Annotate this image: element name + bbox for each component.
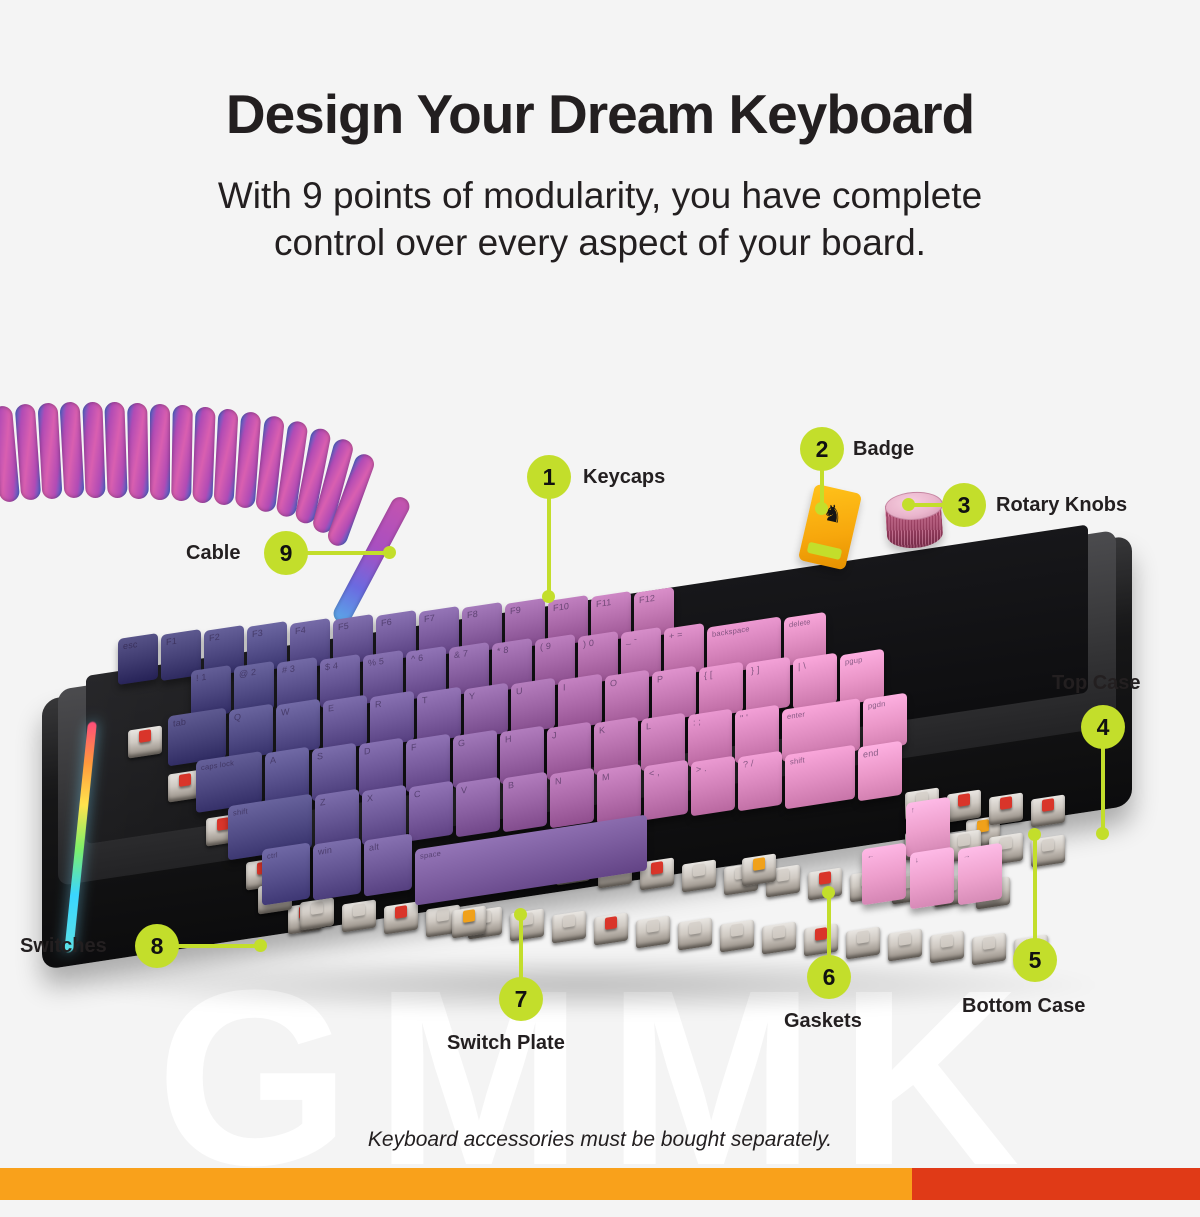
keycap-legend: tab (173, 717, 186, 729)
keycap-legend: T (422, 694, 428, 705)
keycap: I (558, 674, 602, 731)
keycap-legend: @ 2 (239, 667, 256, 680)
callout-leader-1 (547, 497, 551, 597)
page-title: Design Your Dream Keyboard (0, 82, 1200, 146)
accessories-disclaimer: Keyboard accessories must be bought sepa… (0, 1128, 1200, 1152)
keycap-legend: M (602, 771, 610, 782)
badge-accent-chip (807, 542, 843, 560)
keycap-legend: G (458, 738, 465, 749)
keycap-legend: ? / (743, 758, 754, 770)
callout-label-keycaps: Keycaps (583, 466, 665, 489)
keycap: ← (862, 843, 906, 906)
keycap-legend: Y (469, 690, 475, 701)
keycap-legend: ! 1 (196, 672, 207, 684)
keycap: alt (364, 833, 412, 896)
keycap: U (511, 678, 555, 735)
keycap: win (313, 838, 361, 901)
keycap-legend: _ - (626, 633, 637, 645)
callout-leader-8 (177, 944, 259, 948)
keycap-legend: backspace (712, 624, 750, 639)
keycap-legend: V (461, 784, 467, 795)
callout-anchor-6 (822, 886, 835, 899)
keycap-legend: H (505, 733, 512, 744)
keycap-legend: ← (867, 850, 875, 860)
keycap-legend: { [ (704, 669, 713, 680)
keycap-legend: ↑ (911, 805, 915, 815)
keycap-legend: B (508, 780, 514, 791)
keycap-legend: F11 (596, 597, 611, 609)
keycap-legend: U (516, 686, 523, 697)
callout-leader-4 (1101, 747, 1105, 833)
keycap-legend: E (328, 703, 334, 714)
keycap-legend: F12 (639, 593, 655, 605)
keycap: ↓ (910, 847, 954, 910)
keycap-legend: & 7 (454, 648, 468, 660)
keycap: W (276, 699, 320, 756)
keycap: V (456, 776, 500, 837)
keycap-legend: enter (787, 709, 805, 721)
keycap-legend: pgdn (868, 699, 886, 711)
callout-anchor-5 (1028, 828, 1041, 841)
keycap: > . (691, 755, 735, 816)
keycap-legend: W (281, 707, 290, 718)
keycap-legend: > . (696, 763, 707, 775)
callout-label-bottom-case: Bottom Case (962, 995, 1085, 1018)
keycap-legend: R (375, 698, 382, 709)
keycap-legend: " ' (740, 712, 748, 723)
keycap-legend: Z (320, 797, 326, 808)
callout-label-switches: Switches (20, 935, 107, 958)
keycap-legend: shift (233, 806, 248, 817)
rotary-knob (882, 490, 946, 552)
keycap-legend: ↓ (915, 855, 919, 865)
keycap: } ] (746, 657, 790, 714)
keycap: < , (644, 759, 688, 820)
keycap-legend: F8 (467, 609, 478, 621)
keycap-legend: end (863, 747, 879, 759)
keycap-legend: F7 (424, 613, 435, 625)
keycap-legend: + = (669, 629, 683, 641)
keycap: end (858, 740, 902, 801)
bar-segment-orange (0, 1168, 912, 1200)
keycap-legend: < , (649, 767, 660, 779)
keycap-legend: O (610, 677, 617, 688)
keycap: N (550, 768, 594, 829)
keycap-legend: F5 (338, 620, 349, 632)
keycap-legend: delete (789, 617, 811, 629)
callout-anchor-8 (254, 939, 267, 952)
keycap: Q (229, 703, 273, 760)
callout-label-rotary-knobs: Rotary Knobs (996, 494, 1127, 517)
keycap-legend: F9 (510, 605, 521, 617)
keycap-legend: ctrl (267, 850, 278, 861)
keycap-legend: F2 (209, 632, 220, 644)
keycap-legend: alt (369, 841, 379, 853)
keycap-legend: } ] (751, 665, 760, 676)
callout-label-switch-plate: Switch Plate (447, 1032, 565, 1055)
callout-number-8[interactable]: 8 (135, 924, 179, 968)
keycap-legend: Q (234, 711, 241, 722)
keycap-legend: J (552, 729, 557, 740)
callout-number-5[interactable]: 5 (1013, 938, 1057, 982)
keycap-legend: X (367, 793, 373, 804)
callout-label-gaskets: Gaskets (784, 1010, 862, 1033)
keycap: → (958, 843, 1002, 906)
callout-number-1[interactable]: 1 (527, 455, 571, 499)
page-subtitle: With 9 points of modularity, you have co… (160, 172, 1040, 267)
keycap-legend: ( 9 (540, 641, 551, 653)
keycap-legend: pgup (845, 655, 863, 667)
keycap: ? / (738, 751, 782, 812)
keycap-legend: F3 (252, 628, 263, 640)
keycap-legend: caps lock (201, 758, 234, 772)
keycap-legend: A (270, 754, 276, 765)
keycap: ctrl (262, 842, 310, 905)
infographic-canvas: GMMK Design Your Dream Keyboard With 9 p… (0, 0, 1200, 1200)
header: Design Your Dream Keyboard With 9 points… (0, 0, 1200, 267)
keycap-legend: space (420, 849, 441, 861)
bottom-color-bar (0, 1168, 1200, 1200)
keycap-legend: F4 (295, 624, 306, 636)
callout-number-4[interactable]: 4 (1081, 705, 1125, 749)
keycap-legend: D (364, 746, 371, 757)
callout-number-9[interactable]: 9 (264, 531, 308, 575)
keycap-legend: ^ 6 (411, 652, 423, 664)
keycap-legend: F10 (553, 600, 569, 612)
callout-number-2[interactable]: 2 (800, 427, 844, 471)
keycap: E (323, 695, 367, 752)
callout-number-7[interactable]: 7 (499, 977, 543, 1021)
bar-segment-red (912, 1168, 1200, 1200)
keycap-legend: ) 0 (583, 637, 594, 649)
keycap: C (409, 780, 453, 841)
keycap-legend: F (411, 742, 417, 753)
keycap-legend: $ 4 (325, 660, 338, 672)
keycap-legend: * 8 (497, 645, 509, 657)
keycap-legend: shift (790, 756, 805, 767)
keycap-legend: → (963, 850, 971, 860)
callout-leader-5 (1033, 832, 1037, 942)
keycap-legend: I (563, 682, 566, 692)
keycap: esc (118, 633, 158, 685)
callout-leader-9 (306, 551, 388, 555)
keycap-legend: C (414, 788, 421, 799)
keycap-legend: # 3 (282, 664, 295, 676)
keycap-legend: % 5 (368, 656, 384, 668)
callout-anchor-2 (815, 502, 828, 515)
callout-anchor-3 (902, 498, 915, 511)
keycap-legend: win (318, 845, 332, 857)
keycap: shift (785, 745, 855, 810)
keycap-legend: S (317, 750, 323, 761)
keycap-legend: : ; (693, 716, 701, 727)
callout-label-cable: Cable (186, 542, 240, 565)
keycap-legend: P (657, 673, 663, 684)
keycap-legend: K (599, 725, 605, 736)
callout-anchor-7 (514, 908, 527, 921)
callout-leader-7 (519, 912, 523, 984)
keycap-legend: esc (123, 639, 138, 651)
keycap-legend: F6 (381, 617, 392, 629)
keycap-legend: L (646, 721, 651, 732)
callout-anchor-4 (1096, 827, 1109, 840)
callout-anchor-9 (383, 546, 396, 559)
keycap: | \ (793, 653, 837, 710)
keycap-legend: | \ (798, 661, 806, 672)
keycap: B (503, 772, 547, 833)
callout-number-3[interactable]: 3 (942, 483, 986, 527)
callout-anchor-1 (542, 590, 555, 603)
callout-leader-6 (827, 890, 831, 962)
callout-number-6[interactable]: 6 (807, 955, 851, 999)
keycap-legend: F1 (166, 636, 177, 648)
keycap-legend: N (555, 776, 562, 787)
callout-label-badge: Badge (853, 438, 914, 461)
callout-label-top-case: Top Case (1052, 672, 1141, 695)
